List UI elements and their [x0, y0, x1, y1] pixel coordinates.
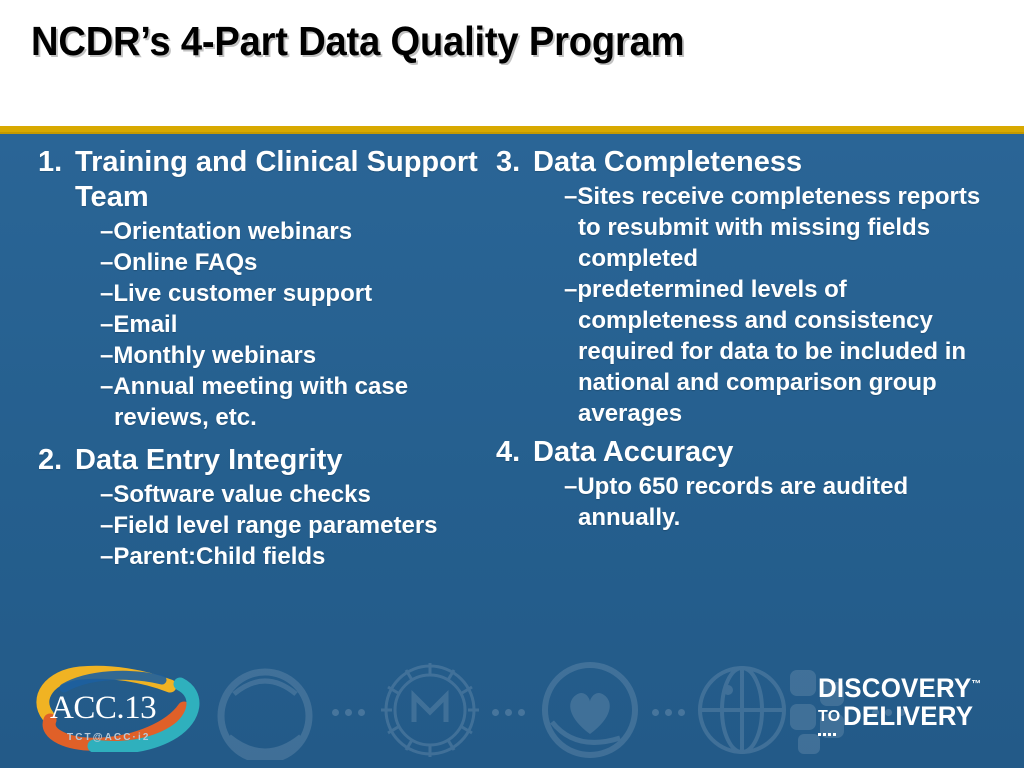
spacer [38, 433, 508, 443]
to-word: TO [818, 703, 844, 730]
sub-bullet: –Email [114, 309, 508, 340]
list-item-4-title: Data Accuracy [533, 435, 996, 470]
sub-bullet: –Field level range parameters [114, 510, 508, 541]
delivery-row: TO DELIVERY [818, 703, 988, 730]
list-item-3-title: Data Completeness [533, 145, 996, 180]
delivery-word: DELIVERY [843, 703, 973, 730]
watermark-heart-icon [536, 660, 644, 760]
to-dots-icon [818, 733, 836, 736]
watermark-seal-icon [376, 660, 484, 760]
list-item-4-subs: –Upto 650 records are audited annually. [496, 471, 996, 533]
discovery-word: DISCOVERY™ [818, 671, 981, 702]
acc13-logo: ACC.13 TCT@ACC·i2 [24, 664, 208, 752]
list-item-4-heading: 4. Data Accuracy [496, 435, 996, 470]
watermark-dot-separator [652, 709, 685, 716]
sub-bullet: –Live customer support [114, 278, 508, 309]
sub-bullet: –Orientation webinars [114, 216, 508, 247]
sub-bullet: –Software value checks [114, 479, 508, 510]
list-item-2-title: Data Entry Integrity [75, 443, 508, 478]
list-item-1-title: Training and Clinical Support Team [75, 145, 508, 215]
slide-root: NCDR’s 4-Part Data Quality Program 1. Tr… [0, 0, 1024, 768]
list-item-2: 2. Data Entry Integrity –Software value … [38, 443, 508, 572]
list-item-4-number: 4. [496, 435, 533, 470]
list-item-3-number: 3. [496, 145, 533, 180]
page-title: NCDR’s 4-Part Data Quality Program [31, 16, 684, 66]
watermark-dot-separator [492, 709, 525, 716]
discovery-text: DISCOVERY [818, 673, 971, 703]
list-item-1-number: 1. [38, 145, 75, 180]
acc13-tagline: TCT@ACC·i2 [67, 732, 151, 743]
list-item-1: 1. Training and Clinical Support Team –O… [38, 145, 508, 433]
discovery-to-delivery-logo: DISCOVERY™ TO DELIVERY [818, 671, 988, 730]
sub-bullet: –Annual meeting with case reviews, etc. [114, 371, 508, 433]
title-band: NCDR’s 4-Part Data Quality Program [0, 0, 1024, 125]
content-panel: 1. Training and Clinical Support Team –O… [0, 134, 1024, 768]
sub-bullet: –Sites receive completeness reports to r… [578, 181, 996, 274]
sub-bullet: –Upto 650 records are audited annually. [578, 471, 996, 533]
acc13-wordmark: ACC.13 [50, 690, 156, 727]
list-item-1-subs: –Orientation webinars –Online FAQs –Live… [38, 216, 508, 433]
list-item-3-heading: 3. Data Completeness [496, 145, 996, 180]
to-text: TO [818, 708, 841, 725]
list-item-1-heading: 1. Training and Clinical Support Team [38, 145, 508, 215]
left-column: 1. Training and Clinical Support Team –O… [38, 145, 508, 572]
watermark-dot-separator [332, 709, 365, 716]
list-item-4: 4. Data Accuracy –Upto 650 records are a… [496, 435, 996, 533]
sub-bullet: –predetermined levels of completeness an… [578, 274, 996, 429]
list-item-2-subs: –Software value checks –Field level rang… [38, 479, 508, 572]
list-item-3: 3. Data Completeness –Sites receive comp… [496, 145, 996, 429]
list-item-2-heading: 2. Data Entry Integrity [38, 443, 508, 478]
list-item-3-subs: –Sites receive completeness reports to r… [496, 181, 996, 429]
sub-bullet: –Online FAQs [114, 247, 508, 278]
sub-bullet: –Monthly webinars [114, 340, 508, 371]
sub-bullet: –Parent:Child fields [114, 541, 508, 572]
list-item-2-number: 2. [38, 443, 75, 478]
watermark-swoosh-icon [210, 664, 320, 760]
trademark-icon: ™ [971, 679, 981, 690]
right-column: 3. Data Completeness –Sites receive comp… [496, 145, 996, 533]
